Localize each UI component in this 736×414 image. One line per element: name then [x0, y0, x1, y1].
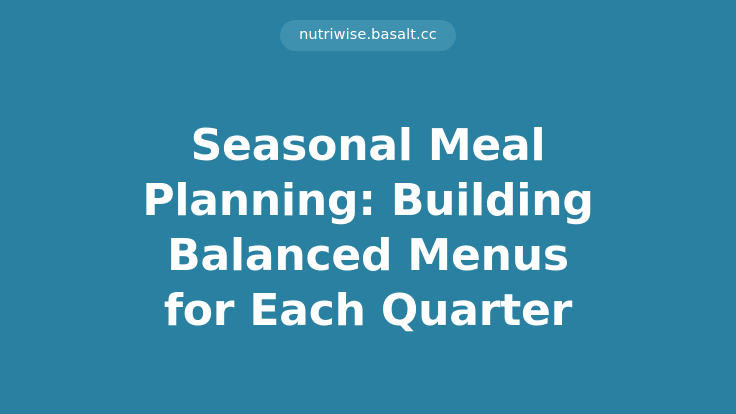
title-card: nutriwise.basalt.cc Seasonal Meal Planni…: [0, 0, 736, 414]
domain-badge: nutriwise.basalt.cc: [280, 20, 456, 51]
page-title: Seasonal Meal Planning: Building Balance…: [142, 118, 594, 348]
headline-container: Seasonal Meal Planning: Building Balance…: [0, 51, 736, 414]
domain-badge-label: nutriwise.basalt.cc: [299, 28, 437, 43]
